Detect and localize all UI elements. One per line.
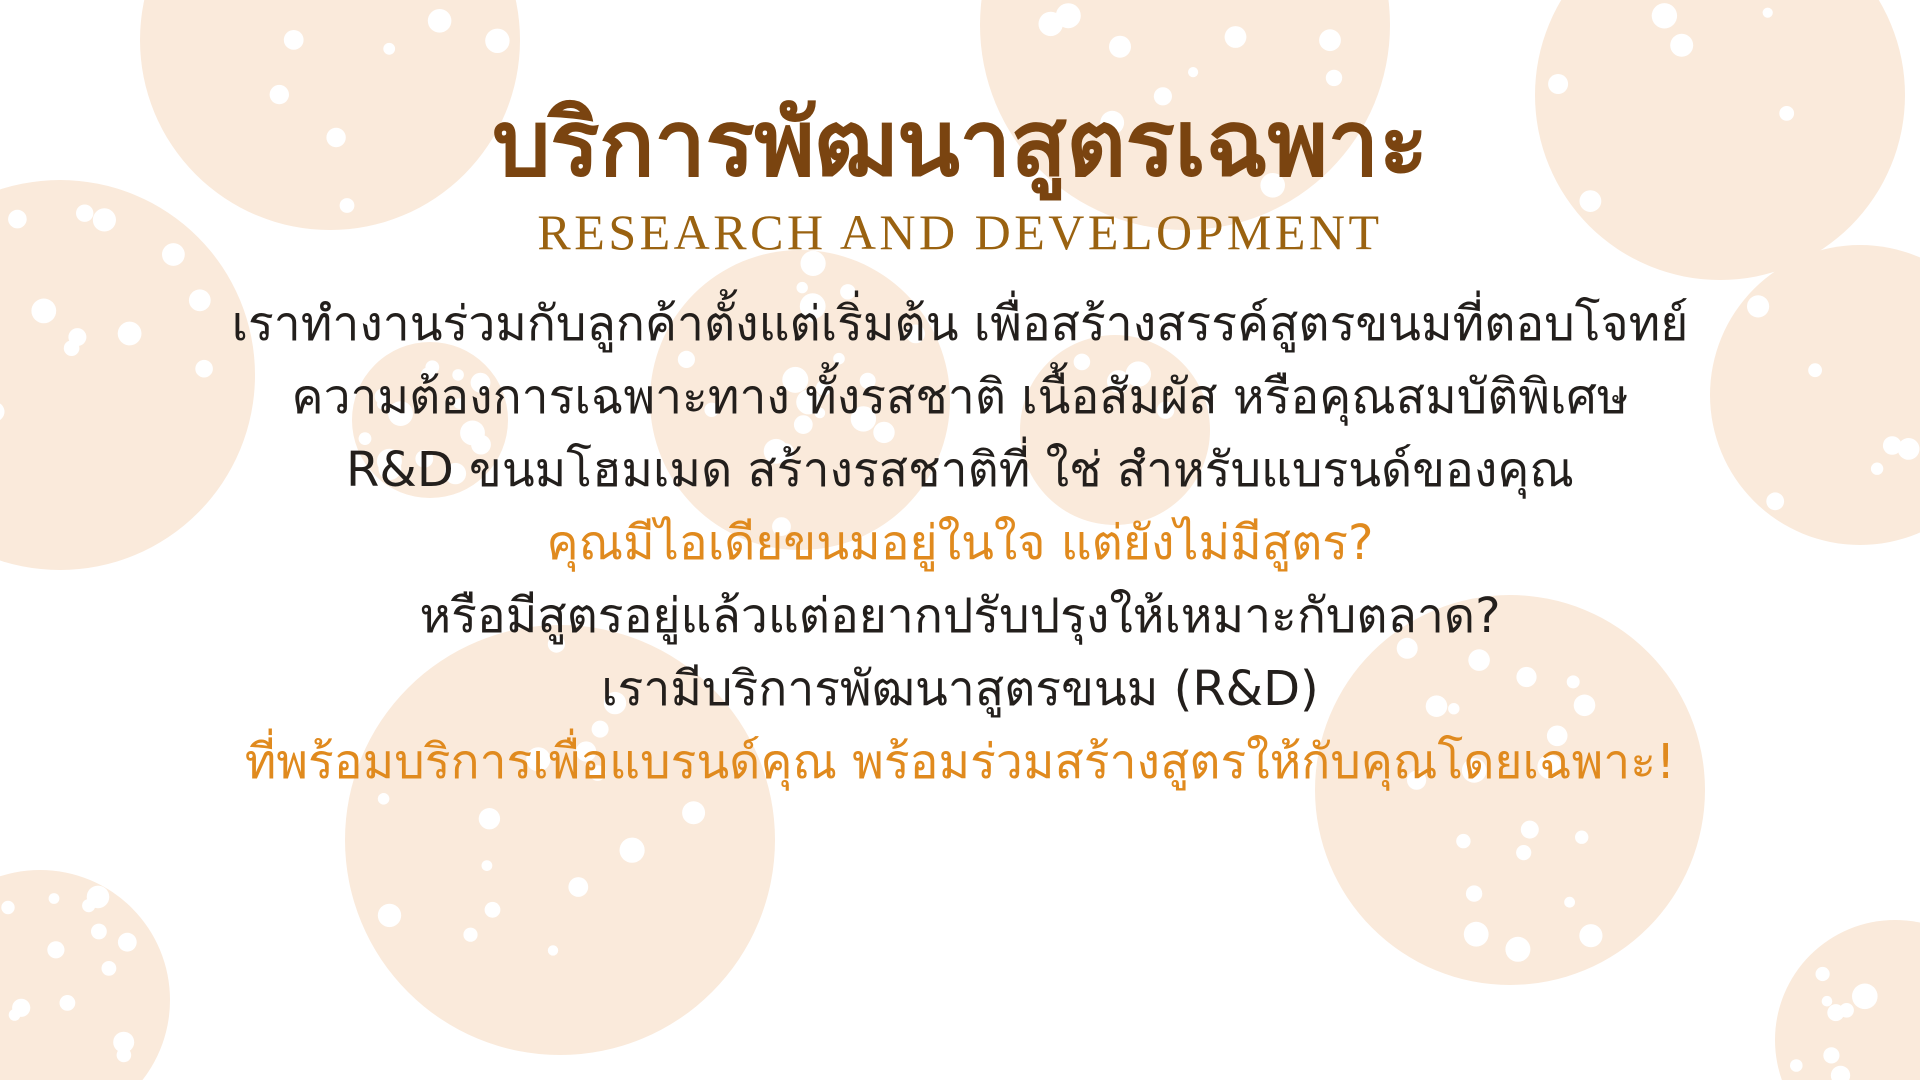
body-line-2: ความต้องการเฉพาะทาง ทั้งรสชาติ เนื้อสัมผ… [291, 361, 1628, 434]
poster-content: บริการพัฒนาสูตรเฉพาะ RESEARCH AND DEVELO… [0, 0, 1920, 1080]
poster-canvas: บริการพัฒนาสูตรเฉพาะ RESEARCH AND DEVELO… [0, 0, 1920, 1080]
body-copy: เราทำงานร่วมกับลูกค้าตั้งแต่เริ่มต้น เพื… [232, 288, 1689, 799]
body-line-7: ที่พร้อมบริการเพื่อแบรนด์คุณ พร้อมร่วมสร… [245, 726, 1676, 799]
body-line-3: R&D ขนมโฮมเมด สร้างรสชาติที่ ใช่ สำหรับแ… [346, 434, 1574, 507]
body-line-5: หรือมีสูตรอยู่แล้วแต่อยากปรับปรุงให้เหมา… [419, 580, 1500, 653]
body-line-1: เราทำงานร่วมกับลูกค้าตั้งแต่เริ่มต้น เพื… [232, 288, 1689, 361]
page-subtitle: RESEARCH AND DEVELOPMENT [537, 206, 1382, 259]
body-line-6: เรามีบริการพัฒนาสูตรขนม (R&D) [601, 653, 1319, 726]
body-line-4: คุณมีไอเดียขนมอยู่ในใจ แต่ยังไม่มีสูตร? [546, 507, 1373, 580]
page-title: บริการพัฒนาสูตรเฉพาะ [492, 96, 1428, 192]
